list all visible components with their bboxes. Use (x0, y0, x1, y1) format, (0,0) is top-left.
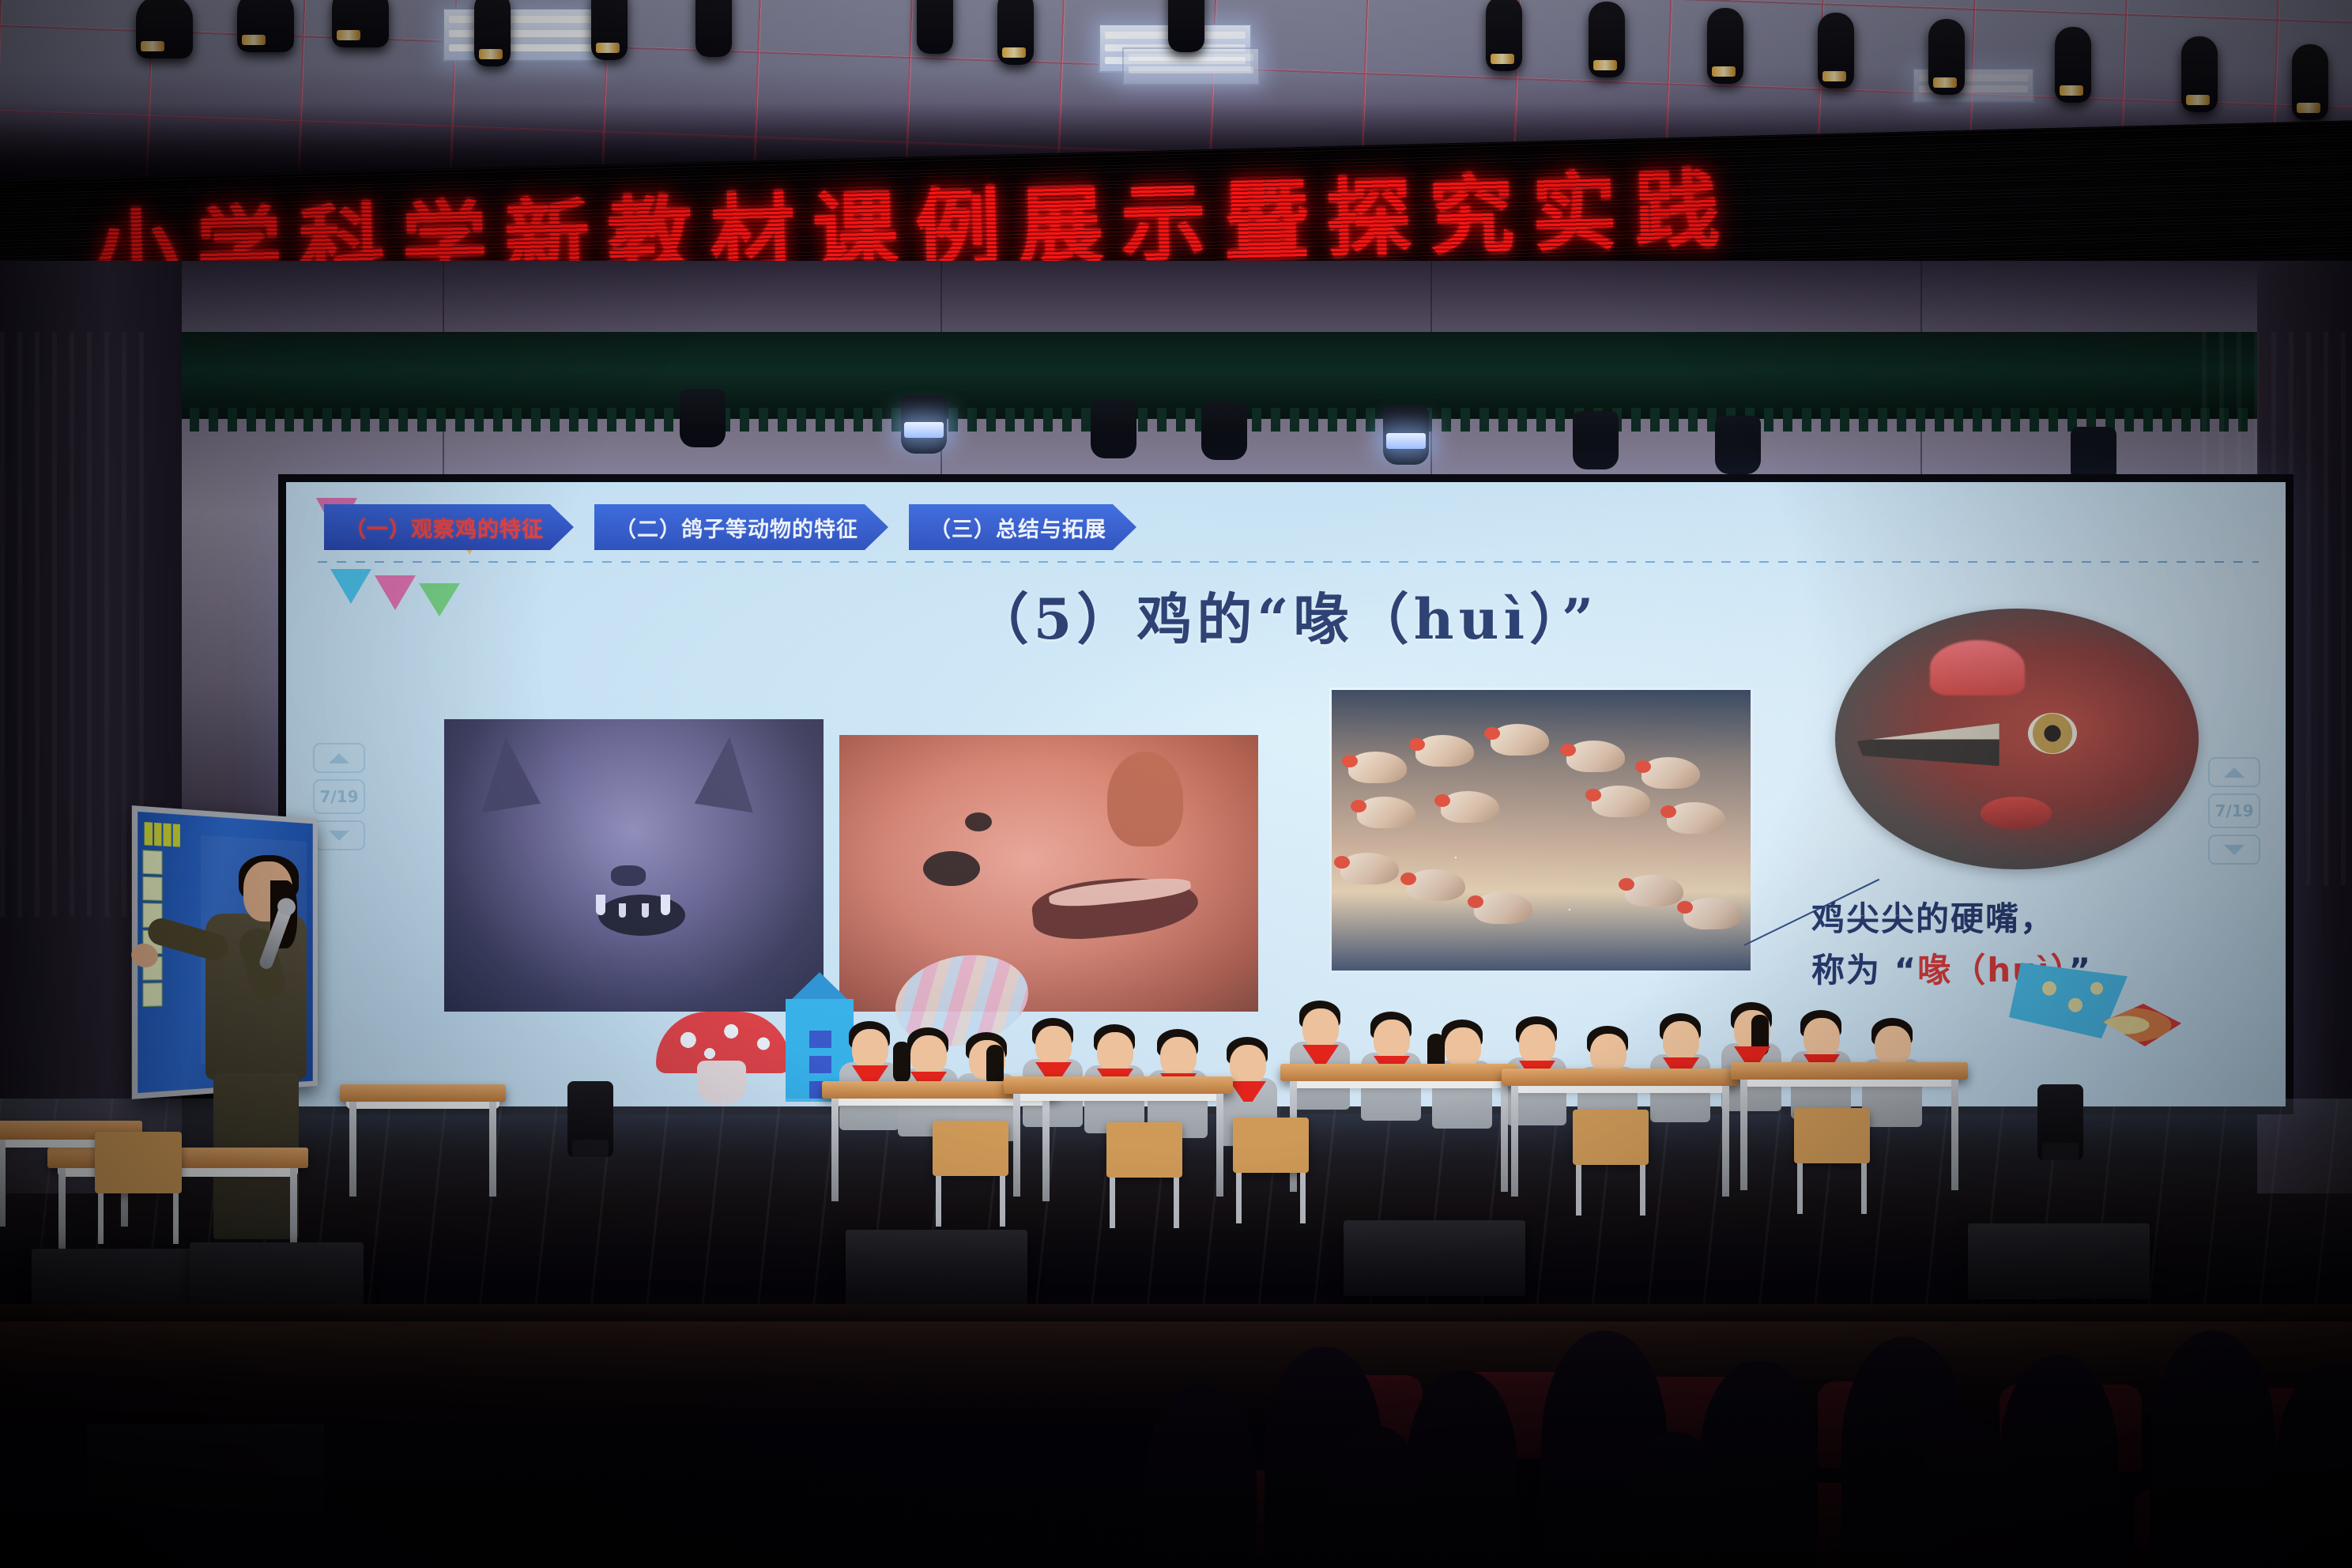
stage-valance (0, 332, 2352, 419)
stage-wash-light (1715, 416, 1761, 474)
ceiling-spotlight (1928, 19, 1965, 95)
ceiling-panel-light (1122, 47, 1260, 85)
chevron-down-icon (2224, 845, 2245, 855)
cat-photo (444, 719, 824, 1012)
presentation-slide[interactable]: （一）观察鸡的特征 （二）鸽子等动物的特征 （三）总结与拓展 （5）鸡的“喙（h… (286, 482, 2286, 1106)
teacher-chair (95, 1132, 182, 1193)
ceiling-spotlight (1486, 0, 1522, 71)
page-up-button[interactable] (2208, 757, 2260, 787)
slide-step-3[interactable]: （三）总结与拓展 (909, 504, 1136, 550)
ceiling-spotlight (1168, 0, 1204, 52)
chevron-up-icon (2224, 767, 2245, 778)
auditorium-photo: 小学科学新教材课例展示暨探究实践 (0, 0, 2352, 1568)
left-stage-curtain (0, 332, 150, 917)
hen (1625, 875, 1683, 906)
moving-head-light (2037, 1084, 2083, 1160)
page-indicator: 7/19 (313, 779, 365, 814)
ceiling-spotlight (917, 0, 953, 54)
ceiling-spotlight (591, 0, 628, 60)
page-down-button[interactable] (313, 820, 365, 850)
whiteboard-sticky-row (145, 822, 180, 847)
student-desk (1502, 1069, 1739, 1086)
ceiling-spotlight (2055, 27, 2091, 103)
dog-photo (839, 735, 1258, 1012)
ceiling-spotlight (332, 0, 389, 47)
hen (1566, 741, 1625, 772)
prop-desk (340, 1084, 506, 1102)
ceiling-panel-light (443, 8, 604, 62)
page-down-button[interactable] (2208, 835, 2260, 865)
ceiling-spotlight (695, 0, 732, 57)
student-chair (1106, 1122, 1182, 1178)
student-desk (1004, 1076, 1233, 1094)
ceiling-spotlight (997, 0, 1034, 65)
ceiling-spotlight (474, 0, 511, 66)
page-up-button[interactable] (313, 743, 365, 773)
student-chair (1573, 1110, 1649, 1165)
student-chair (933, 1121, 1008, 1176)
ceiling-spotlight (2181, 36, 2218, 112)
chevron-up-icon (329, 753, 349, 763)
slide-pager-left[interactable]: 7/19 (315, 743, 364, 850)
stage-wash-light (680, 389, 726, 447)
student-chair (1233, 1118, 1309, 1173)
hen (1683, 898, 1742, 929)
slide-divider (318, 561, 2259, 563)
slide-step-1[interactable]: （一）观察鸡的特征 (324, 504, 574, 550)
hen (1407, 869, 1465, 901)
hen (1667, 802, 1725, 834)
hen (1441, 791, 1499, 823)
chicken-head-photo (1835, 609, 2199, 869)
ceiling-spotlight (136, 0, 193, 58)
stage-wash-light (901, 395, 947, 454)
chicken-comb (1930, 640, 2025, 695)
student-desk (1731, 1062, 1968, 1080)
projection-screen-frame: （一）观察鸡的特征 （二）鸽子等动物的特征 （三）总结与拓展 （5）鸡的“喙（h… (278, 474, 2294, 1114)
chicken-eye (2028, 713, 2077, 754)
slide-step-nav[interactable]: （一）观察鸡的特征 （二）鸽子等动物的特征 （三）总结与拓展 (324, 504, 2254, 550)
chicken-flock-photo (1329, 688, 1753, 973)
hen (1491, 724, 1549, 756)
student-chair (1794, 1108, 1870, 1163)
stage-wash-light (1573, 411, 1619, 469)
kite-decoration (2009, 963, 2175, 1057)
foreground-shadow (0, 1228, 2352, 1568)
slide-step-2[interactable]: （二）鸽子等动物的特征 (594, 504, 888, 550)
hen (1348, 752, 1407, 783)
hen (1415, 735, 1474, 767)
ceiling-spotlight (237, 0, 294, 52)
hen (1357, 797, 1415, 828)
page-indicator: 7/19 (2208, 793, 2260, 828)
hen (1340, 853, 1399, 884)
chicken-beak (1857, 723, 2000, 766)
chicken-wattle (1981, 797, 2052, 830)
caption-prefix: 称为 “ (1811, 951, 1917, 989)
ceiling-spotlight (1589, 2, 1625, 77)
slide-step-2-label: （二）鸽子等动物的特征 (615, 512, 858, 543)
slide-step-3-label: （三）总结与拓展 (929, 512, 1106, 543)
hen (1592, 786, 1650, 817)
caption-line-1: 鸡尖尖的硬嘴， (1811, 893, 2254, 944)
hen (1641, 757, 1700, 789)
stage-wash-light (1201, 401, 1247, 460)
stage-wash-light (1091, 400, 1136, 458)
ceiling-spotlight (1707, 8, 1743, 84)
slide-step-1-label: （一）观察鸡的特征 (345, 512, 544, 543)
student-desk (1280, 1064, 1517, 1081)
slide-pager-right[interactable]: 7/19 (2210, 757, 2259, 865)
ceiling-spotlight (1818, 13, 1854, 89)
chevron-down-icon (329, 831, 349, 841)
stage-wash-light (1383, 406, 1429, 465)
valance-fringe (0, 408, 2352, 432)
moving-head-light (567, 1081, 613, 1157)
